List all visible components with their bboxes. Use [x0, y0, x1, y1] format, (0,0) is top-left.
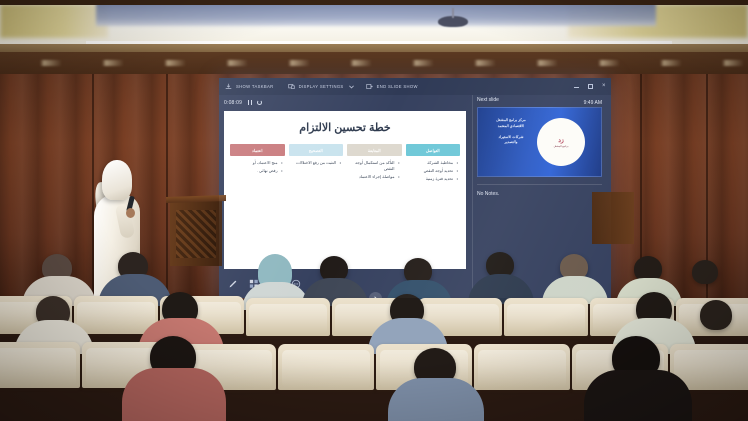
end-slide-show-label: END SLIDE SHOW: [377, 84, 418, 89]
elapsed-timer: 0:08:09: [224, 100, 242, 106]
end-slide-show-button[interactable]: END SLIDE SHOW: [366, 83, 418, 90]
audience-seating: [0, 252, 748, 421]
side-lectern: [592, 192, 634, 244]
thumbnail-line-2: الاقتصادي المعتمد: [484, 124, 538, 130]
bullet-item: مخاطبة الشركة: [408, 160, 459, 166]
bullet-item: منح الاعتماد، أو: [232, 160, 283, 166]
presenter-sidebar: Next slide مركز برامج المشغل الاقتصادي ا…: [477, 97, 607, 197]
restart-timer-icon[interactable]: [257, 100, 262, 105]
show-taskbar-label: SHOW TASKBAR: [236, 84, 274, 89]
next-slide-label: Next slide: [477, 97, 607, 103]
column-header: اعتماد: [230, 144, 285, 156]
screenshot-root: SHOW TASKBAR DISPLAY SETTINGS END SLIDE: [0, 0, 748, 421]
slide-column: التصحيح التثبت من رفع الاختلالات: [289, 144, 344, 185]
taskbar-icon: [225, 83, 232, 90]
column-bullets: التأكد من استكمال أوجه النقص مواصلة إجرا…: [347, 160, 402, 181]
maximize-button[interactable]: [588, 84, 593, 89]
column-bullets: التثبت من رفع الاختلالات: [289, 160, 344, 166]
thumbnail-logo: زد برنامج المشغل: [537, 118, 585, 166]
column-header: التصحيح: [289, 144, 344, 156]
window-controls: ×: [574, 78, 607, 95]
column-header: المتابعة: [347, 144, 402, 156]
bullet-item: تحديد فترة زمنية: [408, 176, 459, 182]
audience-shoulders: [584, 370, 692, 421]
seat: [278, 344, 374, 390]
logo-mark: زد: [558, 137, 564, 144]
wall-accent-lights: [0, 60, 748, 66]
presenter-hand: [126, 208, 135, 218]
bullet-item: رفض نهائي .: [232, 168, 283, 174]
bullet-item: التثبت من رفع الاختلالات: [291, 160, 342, 166]
bullet-item: تحديد أوجه النقص: [408, 168, 459, 174]
lectern-lattice-panel: [176, 210, 216, 258]
slide-title: خطة تحسين الالتزام: [224, 121, 466, 134]
presenter-top-toolbar: SHOW TASKBAR DISPLAY SETTINGS END SLIDE: [219, 78, 611, 95]
end-slide-show-icon: [366, 83, 373, 90]
minimize-button[interactable]: [574, 85, 579, 88]
close-button[interactable]: ×: [602, 84, 607, 89]
slide-column: التواصل مخاطبة الشركة تحديد أوجه النقص ت…: [406, 144, 461, 185]
seat: [0, 342, 80, 388]
audience-head: [700, 300, 732, 330]
next-slide-thumbnail[interactable]: مركز برامج المشغل الاقتصادي المعتمد شركا…: [477, 107, 602, 177]
notes-divider: [477, 184, 602, 185]
bullet-item: التأكد من استكمال أوجه النقص: [349, 160, 400, 172]
current-slide[interactable]: خطة تحسين الالتزام التواصل مخاطبة الشركة…: [224, 111, 466, 269]
logo-subtext: برنامج المشغل: [554, 145, 569, 148]
projector-mount: [452, 8, 454, 18]
audience-shoulders: [388, 378, 484, 421]
seat: [504, 298, 588, 336]
pause-timer-icon[interactable]: [248, 100, 252, 105]
column-header: التواصل: [406, 144, 461, 156]
ceiling-trim: [0, 0, 748, 5]
thumbnail-line-4: والتصدير: [484, 140, 538, 146]
show-taskbar-button[interactable]: SHOW TASKBAR: [225, 83, 274, 90]
audience-shoulders: [122, 368, 226, 421]
thumbnail-text: مركز برامج المشغل الاقتصادي المعتمد شركا…: [484, 118, 538, 146]
bullet-item: مواصلة إجراء الاعتماد: [349, 174, 400, 180]
display-settings-label: DISPLAY SETTINGS: [299, 84, 344, 89]
column-bullets: منح الاعتماد، أو رفض نهائي .: [230, 160, 285, 174]
lectern-top: [166, 195, 226, 203]
audience-head: [692, 260, 718, 284]
speaker-notes: No Notes.: [477, 191, 607, 197]
column-bullets: مخاطبة الشركة تحديد أوجه النقص تحديد فتر…: [406, 160, 461, 183]
display-settings-icon: [288, 83, 295, 90]
ceiling-warm-light-left: [0, 4, 108, 38]
slide-column: اعتماد منح الاعتماد، أو رفض نهائي .: [230, 144, 285, 185]
chevron-down-icon: [348, 83, 352, 90]
seat: [474, 344, 570, 390]
timer-controls: [248, 100, 262, 105]
seat: [74, 296, 158, 334]
seat: [246, 298, 330, 336]
slide-column: المتابعة التأكد من استكمال أوجه النقص مو…: [347, 144, 402, 185]
slide-columns: التواصل مخاطبة الشركة تحديد أوجه النقص ت…: [230, 144, 460, 185]
display-settings-button[interactable]: DISPLAY SETTINGS: [288, 83, 352, 90]
presenter-headdress: [102, 160, 132, 200]
